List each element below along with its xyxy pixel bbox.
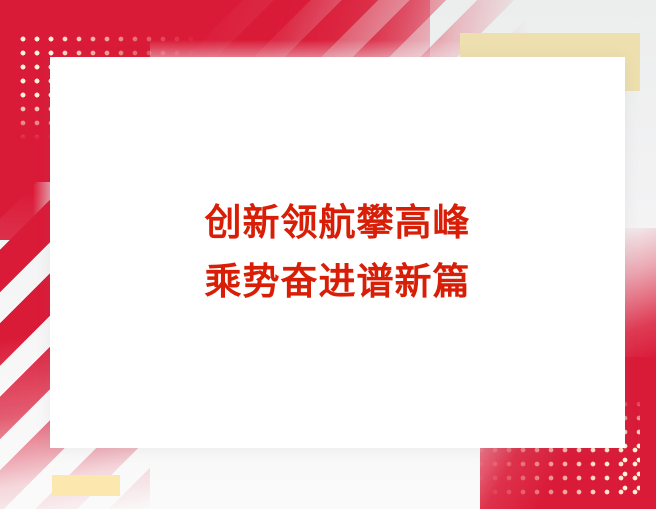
title-line-1: 创新领航攀高峰 — [205, 194, 471, 252]
card-content-area: 创新领航攀高峰 乘势奋进谱新篇 — [50, 57, 625, 448]
title-line-2: 乘势奋进谱新篇 — [205, 253, 471, 311]
bottom-left-gold-bar — [52, 475, 120, 496]
bottom-right-dot-grid-icon — [472, 441, 640, 499]
content-card: 创新领航攀高峰 乘势奋进谱新篇 — [50, 57, 625, 448]
top-right-gold-bracket-horizontal — [460, 33, 640, 57]
top-left-dot-column-icon — [14, 30, 54, 140]
top-right-gold-bracket-vertical — [625, 33, 640, 91]
poster-canvas: 创新领航攀高峰 乘势奋进谱新篇 — [0, 0, 656, 509]
